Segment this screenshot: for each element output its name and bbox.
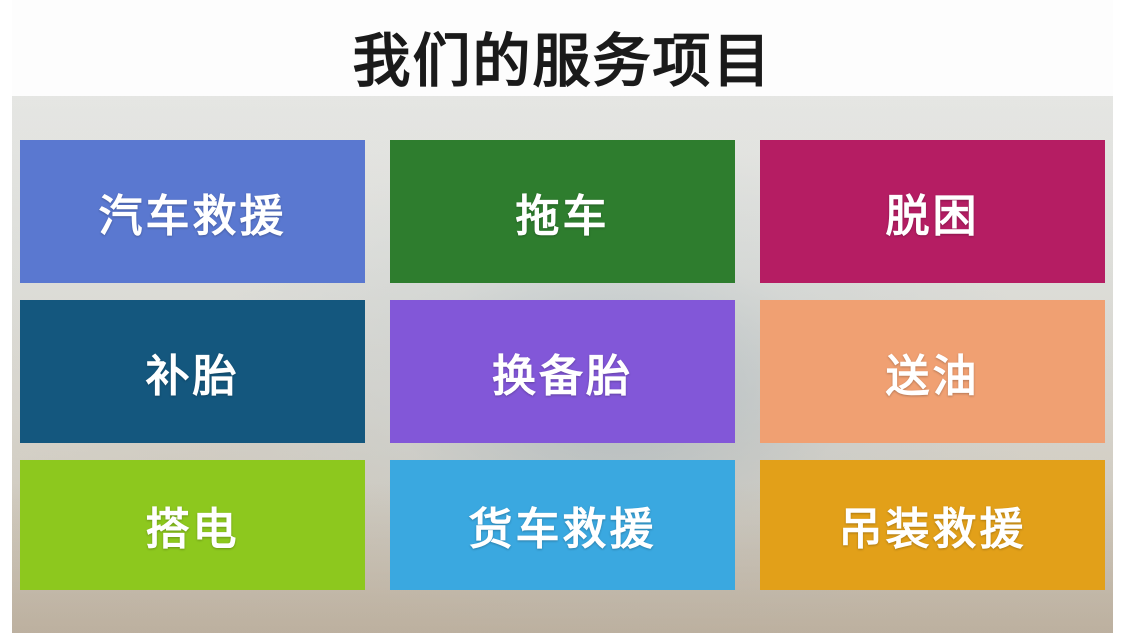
service-tile-label: 补胎 — [146, 340, 240, 404]
service-grid: 汽车救援 拖车 脱困 补胎 换备胎 送油 搭电 货车救援 吊装救援 — [20, 140, 1105, 603]
service-tile-label: 搭电 — [146, 493, 240, 557]
service-tile-extrication[interactable]: 脱困 — [760, 140, 1105, 283]
service-tile-label: 送油 — [886, 340, 980, 404]
service-tile-label: 换备胎 — [492, 340, 633, 404]
service-tile-spare-tire[interactable]: 换备胎 — [390, 300, 735, 443]
service-tile-towing[interactable]: 拖车 — [390, 140, 735, 283]
service-tile-label: 拖车 — [516, 180, 610, 244]
service-tile-fuel-delivery[interactable]: 送油 — [760, 300, 1105, 443]
service-tile-label: 货车救援 — [469, 493, 657, 557]
service-tile-tire-repair[interactable]: 补胎 — [20, 300, 365, 443]
service-tile-jump-start[interactable]: 搭电 — [20, 460, 365, 590]
service-tile-car-rescue[interactable]: 汽车救援 — [20, 140, 365, 283]
service-tile-truck-rescue[interactable]: 货车救援 — [390, 460, 735, 590]
service-tile-label: 汽车救援 — [99, 180, 287, 244]
page-title: 我们的服务项目 — [0, 14, 1125, 98]
service-poster: 我们的服务项目 汽车救援 拖车 脱困 补胎 换备胎 送油 搭电 货车救援 吊装救… — [0, 0, 1125, 633]
service-tile-label: 脱困 — [886, 180, 980, 244]
service-tile-crane-rescue[interactable]: 吊装救援 — [760, 460, 1105, 590]
service-tile-label: 吊装救援 — [839, 493, 1027, 557]
